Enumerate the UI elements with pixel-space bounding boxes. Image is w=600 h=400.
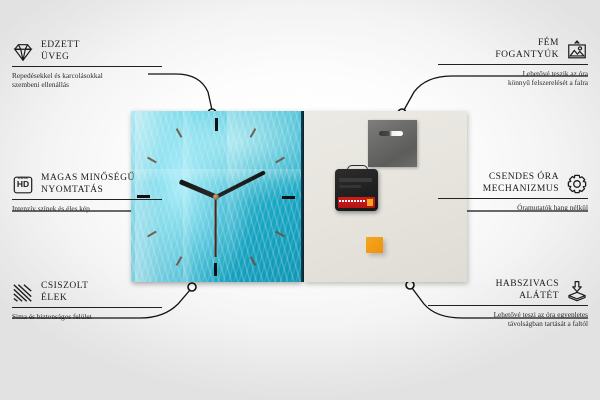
callout-tempered-glass: EDZETT ÜVEG Repedésekkel és karcolásokka… [12, 40, 162, 89]
gear-icon [566, 173, 588, 195]
framed-picture-icon [566, 39, 588, 61]
product-infographic: EDZETT ÜVEG Repedésekkel és karcolásokka… [0, 0, 600, 400]
divider [438, 64, 588, 65]
mechanism-label [338, 197, 375, 208]
mechanism-slot [339, 185, 361, 188]
callout-title: EDZETT ÜVEG [41, 40, 80, 63]
callout-title: CSISZOLT ÉLEK [41, 281, 88, 304]
callout-title: MAGAS MINŐSÉGŰ NYOMTATÁS [41, 173, 135, 196]
mechanism-loop [347, 165, 368, 175]
callout-foam-underlay: HABSZIVACS ALÁTÉT Lehetővé teszi az óra … [428, 279, 588, 328]
callout-title: HABSZIVACS ALÁTÉT [496, 279, 559, 302]
callout-header: HABSZIVACS ALÁTÉT [428, 279, 588, 302]
hanger-keyhole [379, 131, 403, 136]
callout-header: FÉM FOGANTYÚK [438, 38, 588, 61]
product-image [131, 111, 467, 282]
diagonal-hatch-icon [12, 282, 34, 304]
callout-header: CSENDES ÓRA MECHANIZMUS [438, 172, 588, 195]
callout-title: FÉM FOGANTYÚK [495, 38, 559, 61]
divider [12, 307, 162, 308]
metal-hanger [368, 120, 417, 167]
divider [12, 199, 162, 200]
foam-pad [366, 237, 383, 253]
callout-metal-handles: FÉM FOGANTYÚK Lehetővé teszik az óra kön… [438, 38, 588, 87]
clock-mechanism [335, 169, 378, 211]
callout-title: CSENDES ÓRA MECHANIZMUS [483, 172, 559, 195]
press-down-pad-icon [566, 280, 588, 302]
divider [438, 198, 588, 199]
callout-quiet-mechanism: CSENDES ÓRA MECHANIZMUS Óramutatók hang … [438, 172, 588, 212]
ultra-hd-icon: ultra HD [12, 174, 34, 196]
diamond-icon [12, 41, 34, 63]
divider [428, 305, 588, 306]
callout-polished-edges: CSISZOLT ÉLEK Sima és biztonságos felüle… [12, 281, 162, 321]
clock-center-cap [213, 194, 219, 200]
callout-header: EDZETT ÜVEG [12, 40, 162, 63]
mechanism-slot [339, 178, 372, 182]
divider [12, 66, 162, 67]
clock-second-hand [215, 197, 217, 257]
callout-header: ultra HD MAGAS MINŐSÉGŰ NYOMTATÁS [12, 173, 162, 196]
callout-header: CSISZOLT ÉLEK [12, 281, 162, 304]
callout-high-quality-print: ultra HD MAGAS MINŐSÉGŰ NYOMTATÁS Intenz… [12, 173, 162, 213]
